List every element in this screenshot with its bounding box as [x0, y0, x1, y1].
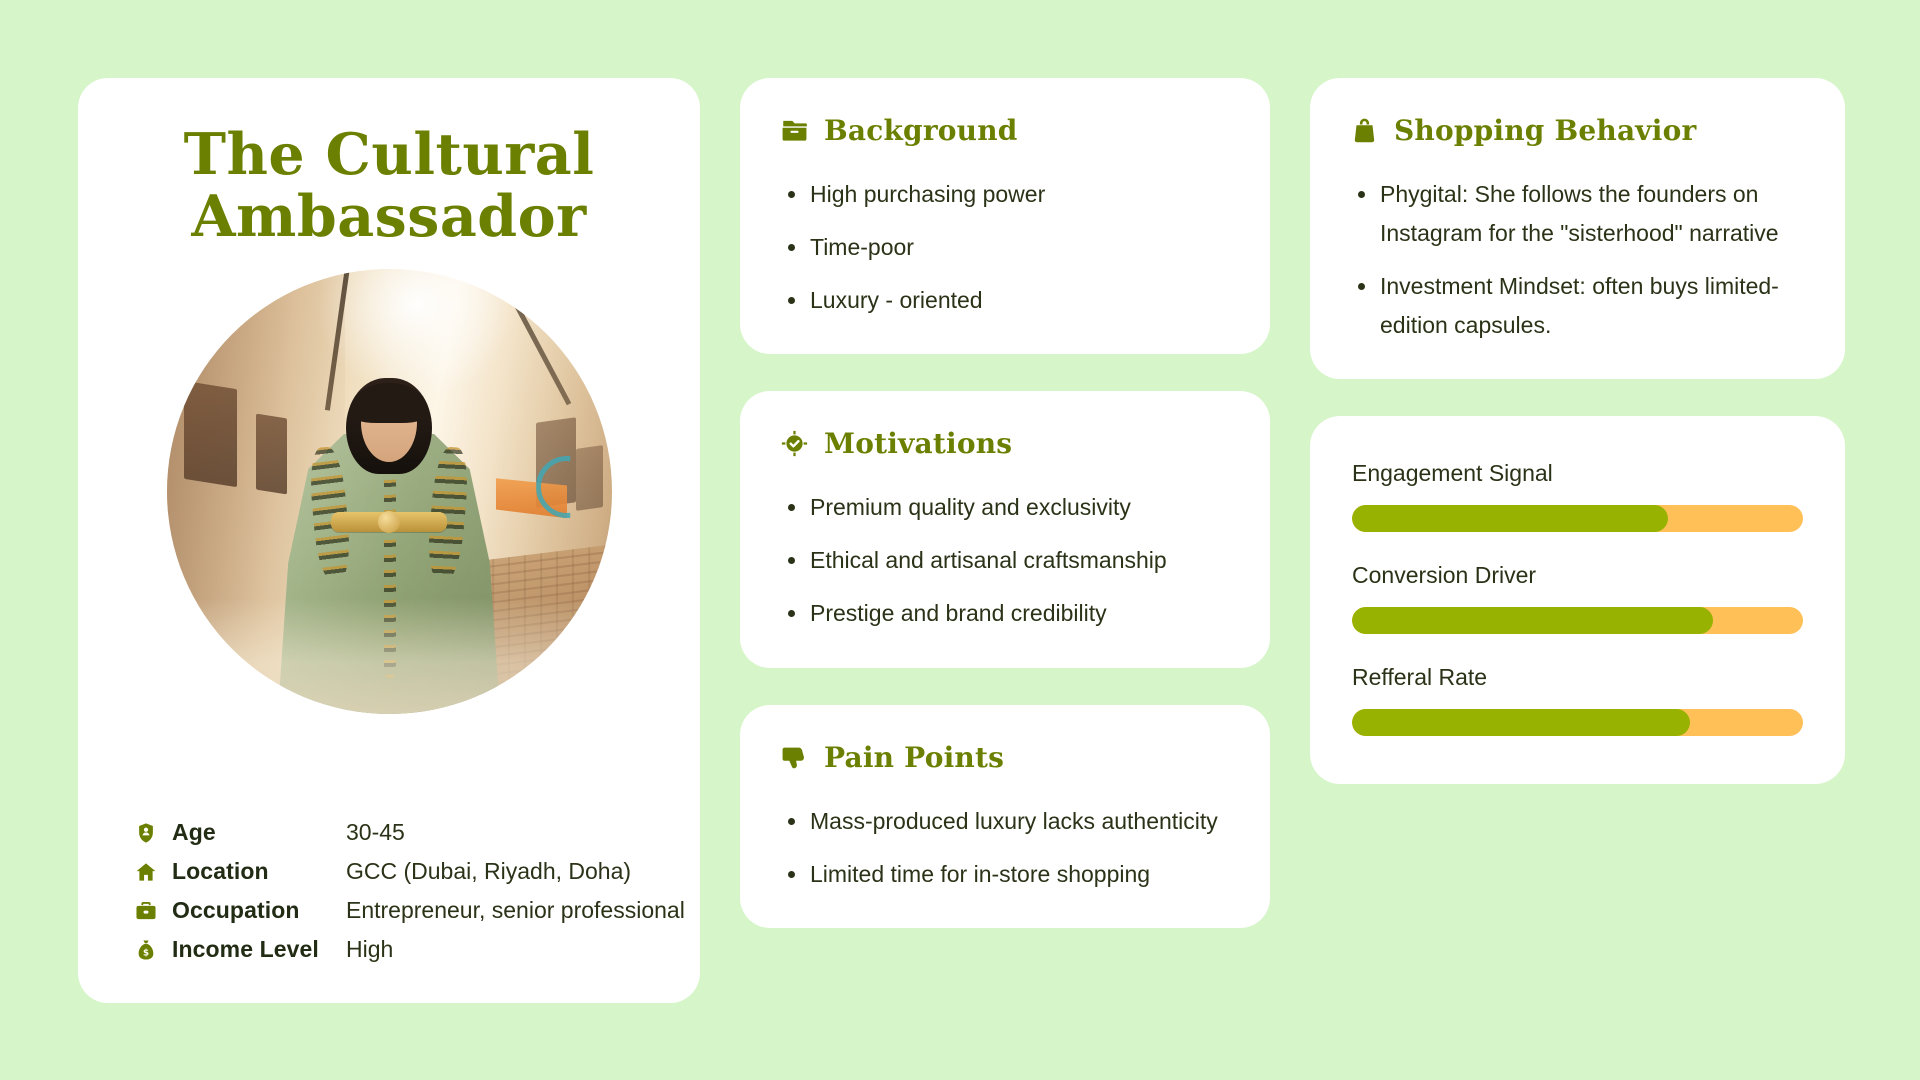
svg-text:$: $: [143, 948, 149, 958]
attribute-value: 30-45: [346, 819, 405, 846]
metric-engagement-signal: Engagement Signal: [1352, 460, 1803, 532]
progress-fill: [1352, 607, 1713, 634]
target-check-icon: [780, 430, 808, 458]
briefcase-icon: [134, 899, 158, 923]
profile-card: The Cultural Ambassador: [78, 78, 700, 1003]
pain-points-card: Pain Points Mass-produced luxury lacks a…: [740, 705, 1270, 928]
list-item: Mass-produced luxury lacks authenticity: [780, 802, 1230, 841]
attribute-row-location: Location GCC (Dubai, Riyadh, Doha): [134, 858, 656, 885]
metrics-card: Engagement Signal Conversion Driver Reff…: [1310, 416, 1845, 784]
card-title: Pain Points: [824, 741, 1004, 774]
archive-folder-icon: [780, 117, 808, 145]
persona-board: The Cultural Ambassador: [0, 0, 1920, 1080]
attribute-value: High: [346, 936, 393, 963]
metric-label: Conversion Driver: [1352, 562, 1803, 589]
card-title: Motivations: [824, 427, 1012, 460]
thumbs-down-icon: [780, 743, 808, 771]
list-item: Phygital: She follows the founders on In…: [1350, 175, 1805, 253]
attribute-label: Age: [172, 819, 332, 846]
attribute-row-age: Age 30-45: [134, 819, 656, 846]
metric-refferal-rate: Refferal Rate: [1352, 664, 1803, 736]
card-title: Shopping Behavior: [1394, 114, 1696, 147]
attribute-list: Age 30-45 Location GCC (Dubai, Riyadh, D…: [122, 819, 656, 963]
list-item: Time-poor: [780, 228, 1230, 267]
embroidery-detail: [384, 465, 396, 679]
metric-label: Refferal Rate: [1352, 664, 1803, 691]
metric-label: Engagement Signal: [1352, 460, 1803, 487]
attribute-label: Location: [172, 858, 332, 885]
list-item: Limited time for in-store shopping: [780, 855, 1230, 894]
attribute-value: Entrepreneur, senior professional: [346, 897, 685, 924]
attribute-label: Income Level: [172, 936, 332, 963]
badge-shield-icon: [134, 821, 158, 845]
avatar-photo: [167, 269, 612, 714]
attribute-row-income-level: $ Income Level High: [134, 936, 656, 963]
motivations-list: Premium quality and exclusivity Ethical …: [780, 488, 1230, 633]
progress-track[interactable]: [1352, 709, 1803, 736]
card-header: Motivations: [780, 427, 1230, 460]
motivations-card: Motivations Premium quality and exclusiv…: [740, 391, 1270, 667]
middle-column: Background High purchasing power Time-po…: [740, 78, 1270, 1003]
metric-conversion-driver: Conversion Driver: [1352, 562, 1803, 634]
card-header: Shopping Behavior: [1350, 114, 1805, 147]
right-column: Shopping Behavior Phygital: She follows …: [1310, 78, 1845, 1003]
card-header: Pain Points: [780, 741, 1230, 774]
background-card: Background High purchasing power Time-po…: [740, 78, 1270, 354]
home-icon: [134, 860, 158, 884]
card-header: Background: [780, 114, 1230, 147]
shopping-behavior-card: Shopping Behavior Phygital: She follows …: [1310, 78, 1845, 379]
attribute-value: GCC (Dubai, Riyadh, Doha): [346, 858, 631, 885]
progress-track[interactable]: [1352, 607, 1803, 634]
shopping-bag-icon: [1350, 117, 1378, 145]
gold-belt: [331, 512, 447, 532]
progress-fill: [1352, 505, 1668, 532]
attribute-label: Occupation: [172, 897, 332, 924]
attribute-row-occupation: Occupation Entrepreneur, senior professi…: [134, 897, 656, 924]
list-item: Investment Mindset: often buys limited-e…: [1350, 267, 1805, 345]
shopping-behavior-list: Phygital: She follows the founders on In…: [1350, 175, 1805, 345]
card-title: Background: [824, 114, 1018, 147]
person-figure: [167, 269, 612, 714]
list-item: Premium quality and exclusivity: [780, 488, 1230, 527]
pain-points-list: Mass-produced luxury lacks authenticity …: [780, 802, 1230, 894]
page-title: The Cultural Ambassador: [122, 124, 656, 247]
list-item: Ethical and artisanal craftsmanship: [780, 541, 1230, 580]
list-item: Prestige and brand credibility: [780, 594, 1230, 633]
progress-fill: [1352, 709, 1690, 736]
list-item: High purchasing power: [780, 175, 1230, 214]
background-list: High purchasing power Time-poor Luxury -…: [780, 175, 1230, 320]
money-bag-icon: $: [134, 938, 158, 962]
avatar: [167, 269, 612, 714]
list-item: Luxury - oriented: [780, 281, 1230, 320]
progress-track[interactable]: [1352, 505, 1803, 532]
